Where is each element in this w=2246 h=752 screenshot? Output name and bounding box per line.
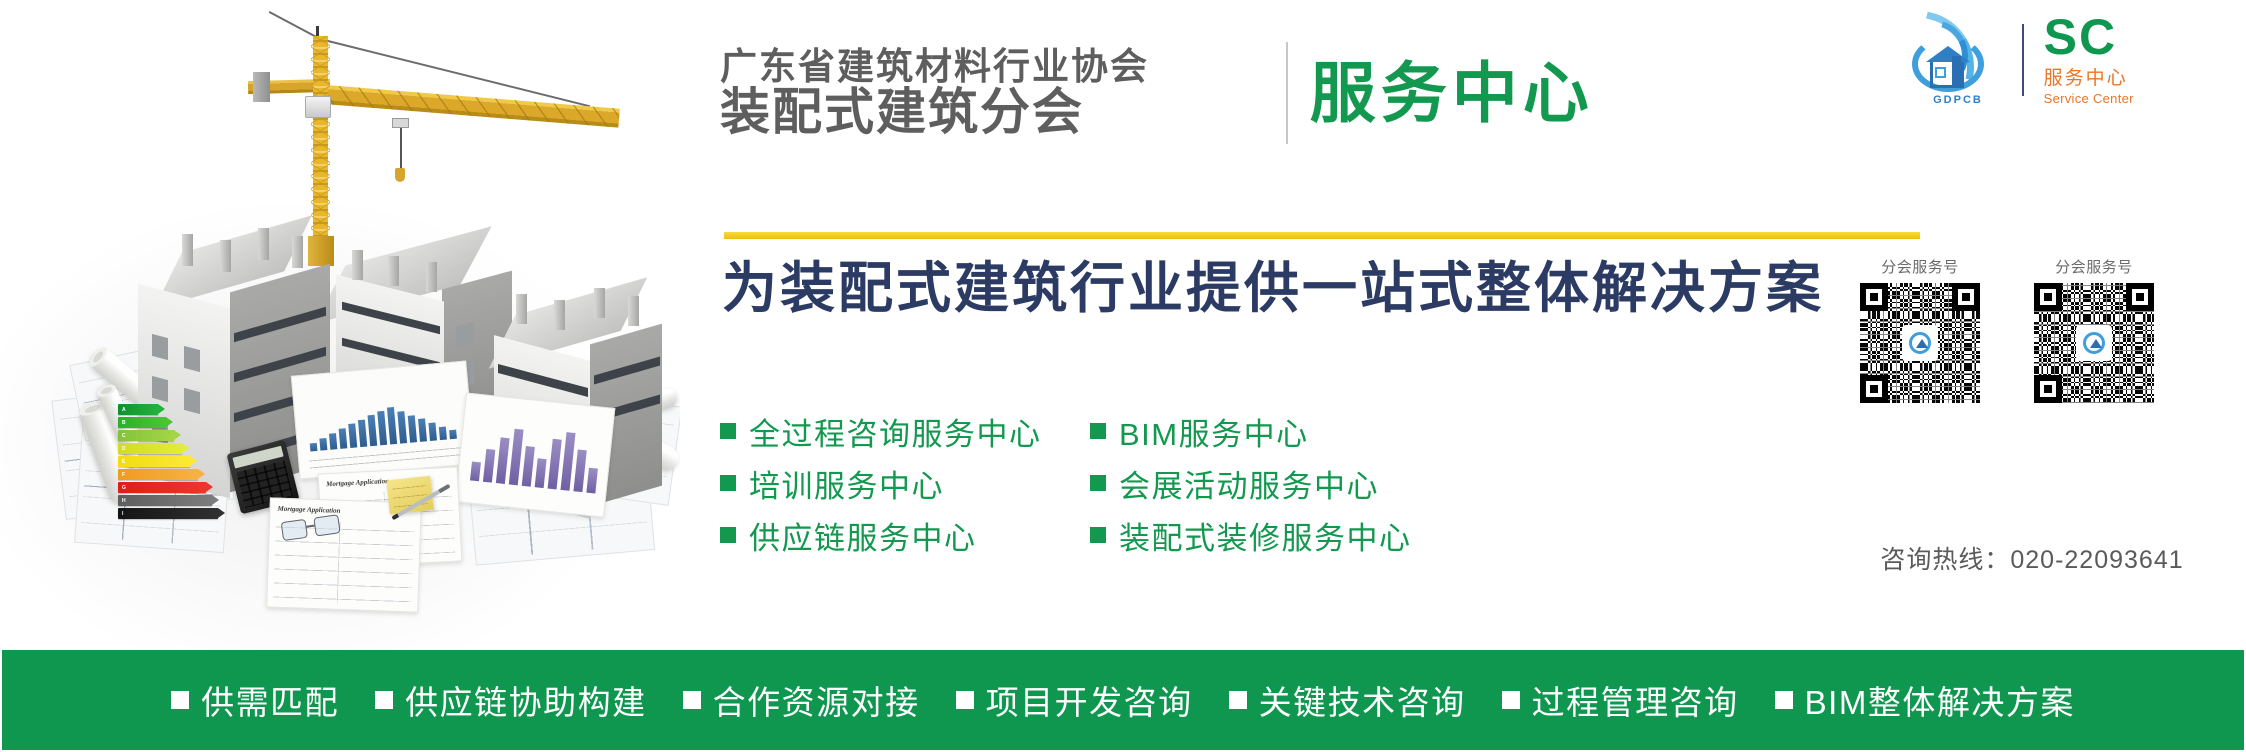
list-item[interactable]: BIM服务中心 <box>1090 405 1412 457</box>
gdpcb-wordmark: GDPCB <box>1902 94 2014 106</box>
service-label: 装配式装修服务中心 <box>1119 513 1412 558</box>
bar-chart-document <box>291 361 475 480</box>
sc-abbrev: SC <box>2044 14 2194 62</box>
bar-chart-purple <box>470 417 602 494</box>
qr-code-image[interactable] <box>1860 283 1980 403</box>
sc-wordmark-group: SC 服务中心 Service Center <box>2044 14 2194 106</box>
banner-title-block: 广东省建筑材料行业协会 装配式建筑分会 服务中心 <box>720 38 1880 148</box>
association-name: 广东省建筑材料行业协会 装配式建筑分会 <box>720 47 1280 139</box>
logo-divider <box>2022 24 2024 96</box>
qr-finder-top-right <box>1952 283 1980 311</box>
list-item[interactable]: 供应链协助构建 <box>375 676 647 724</box>
banner-content: GDPCB SC 服务中心 Service Center 广东省建筑材料行业协会… <box>680 0 2246 650</box>
list-item[interactable]: 会展活动服务中心 <box>1090 457 1412 509</box>
service-center-title: 服务中心 <box>1310 60 1594 126</box>
list-item[interactable]: 供应链服务中心 <box>720 509 1042 561</box>
bullet-square-icon <box>1775 691 1793 709</box>
bottom-capability-bar: 供需匹配 供应链协助构建 合作资源对接 项目开发咨询 关键技术咨询 过程管理咨询… <box>2 650 2244 750</box>
list-item[interactable]: 全过程咨询服务中心 <box>720 405 1042 457</box>
list-item[interactable]: 过程管理咨询 <box>1502 676 1739 724</box>
bullet-square-icon <box>375 691 393 709</box>
capability-label: 合作资源对接 <box>713 676 920 724</box>
bullet-square-icon <box>720 475 736 491</box>
crane-hook <box>395 168 405 182</box>
list-item[interactable]: BIM整体解决方案 <box>1775 676 2075 724</box>
list-item[interactable]: 培训服务中心 <box>720 457 1042 509</box>
hotline-text: 咨询热线：020-22093641 <box>1832 540 2232 576</box>
qr-center-logo <box>2076 325 2112 361</box>
eyeglasses-bridge <box>306 525 314 528</box>
house-tower-shape <box>1952 56 1961 88</box>
capability-label: 过程管理咨询 <box>1532 676 1739 724</box>
bullet-square-icon <box>720 423 736 439</box>
sc-english-label: Service Center <box>2044 91 2194 106</box>
bar-chart-blue <box>305 381 459 452</box>
bullet-square-icon <box>1090 475 1106 491</box>
service-label: 供应链服务中心 <box>749 513 977 558</box>
crane-mast <box>313 36 328 261</box>
association-name-line1: 广东省建筑材料行业协会 <box>720 47 1280 86</box>
yellow-divider-rule <box>724 232 1920 239</box>
crane-trolley <box>392 118 409 128</box>
capability-label: BIM整体解决方案 <box>1805 676 2075 724</box>
gdpcb-house-flame-icon: GDPCB <box>1902 16 2014 104</box>
service-label: 全过程咨询服务中心 <box>749 409 1042 454</box>
bullet-square-icon <box>720 527 736 543</box>
bullet-square-icon <box>1229 691 1247 709</box>
service-label: 会展活动服务中心 <box>1119 461 1379 506</box>
qr-finder-top-left <box>2034 283 2062 311</box>
qr-code-image[interactable] <box>2034 283 2154 403</box>
title-vertical-divider <box>1286 42 1288 144</box>
list-item[interactable]: 装配式装修服务中心 <box>1090 509 1412 561</box>
qr-center-logo <box>1902 325 1938 361</box>
service-list-left: 全过程咨询服务中心 培训服务中心 供应链服务中心 <box>720 405 1042 561</box>
service-list-right: BIM服务中心 会展活动服务中心 装配式装修服务中心 <box>1090 405 1412 561</box>
association-name-line2: 装配式建筑分会 <box>720 86 1280 139</box>
list-item[interactable]: 供需匹配 <box>171 676 339 724</box>
bullet-square-icon <box>1090 527 1106 543</box>
list-item[interactable]: 项目开发咨询 <box>956 676 1193 724</box>
service-center-lists: 全过程咨询服务中心 培训服务中心 供应链服务中心 BIM服务中心 <box>720 405 1870 595</box>
capability-label: 供需匹配 <box>201 676 339 724</box>
construction-3d-render: A B C D E F G H I Mortgage Application M… <box>0 0 680 650</box>
secondary-bar-chart-document <box>455 392 616 517</box>
bullet-square-icon <box>171 691 189 709</box>
qr-code-item: 分会服务号 <box>1854 256 1986 403</box>
house-window-shape <box>1935 67 1946 78</box>
bullet-square-icon <box>1090 423 1106 439</box>
capability-label: 关键技术咨询 <box>1259 676 1466 724</box>
qr-finder-bottom-left <box>2034 375 2062 403</box>
bullet-square-icon <box>683 691 701 709</box>
service-center-banner: A B C D E F G H I Mortgage Application M… <box>0 0 2246 752</box>
capability-label: 项目开发咨询 <box>986 676 1193 724</box>
bullet-square-icon <box>1502 691 1520 709</box>
crane-counterweight <box>253 72 270 102</box>
qr-code-label: 分会服务号 <box>2028 256 2160 277</box>
service-label: 培训服务中心 <box>749 461 944 506</box>
capability-label: 供应链协助构建 <box>405 676 647 724</box>
energy-rating-chart: A B C D E F G H I <box>118 404 226 522</box>
qr-code-block: 分会服务号 分会服务号 <box>1832 256 2232 436</box>
list-item[interactable]: 合作资源对接 <box>683 676 920 724</box>
banner-subtitle: 为装配式建筑行业提供一站式整体解决方案 <box>722 255 1972 321</box>
qr-finder-top-right <box>2126 283 2154 311</box>
gdpcb-sc-logo: GDPCB SC 服务中心 Service Center <box>1902 14 2222 106</box>
house-roof-shape <box>1926 46 1970 62</box>
crane-operator-cab <box>305 96 331 118</box>
qr-code-item: 分会服务号 <box>2028 256 2160 403</box>
crane-cable <box>400 128 402 170</box>
eyeglasses-lens-left <box>281 519 308 541</box>
list-item[interactable]: 关键技术咨询 <box>1229 676 1466 724</box>
eyeglasses-lens-right <box>313 514 340 536</box>
qr-finder-top-left <box>1860 283 1888 311</box>
bullet-square-icon <box>956 691 974 709</box>
qr-finder-bottom-left <box>1860 375 1888 403</box>
sc-chinese-label: 服务中心 <box>2044 63 2194 90</box>
qr-code-label: 分会服务号 <box>1854 256 1986 277</box>
service-label: BIM服务中心 <box>1119 409 1309 454</box>
